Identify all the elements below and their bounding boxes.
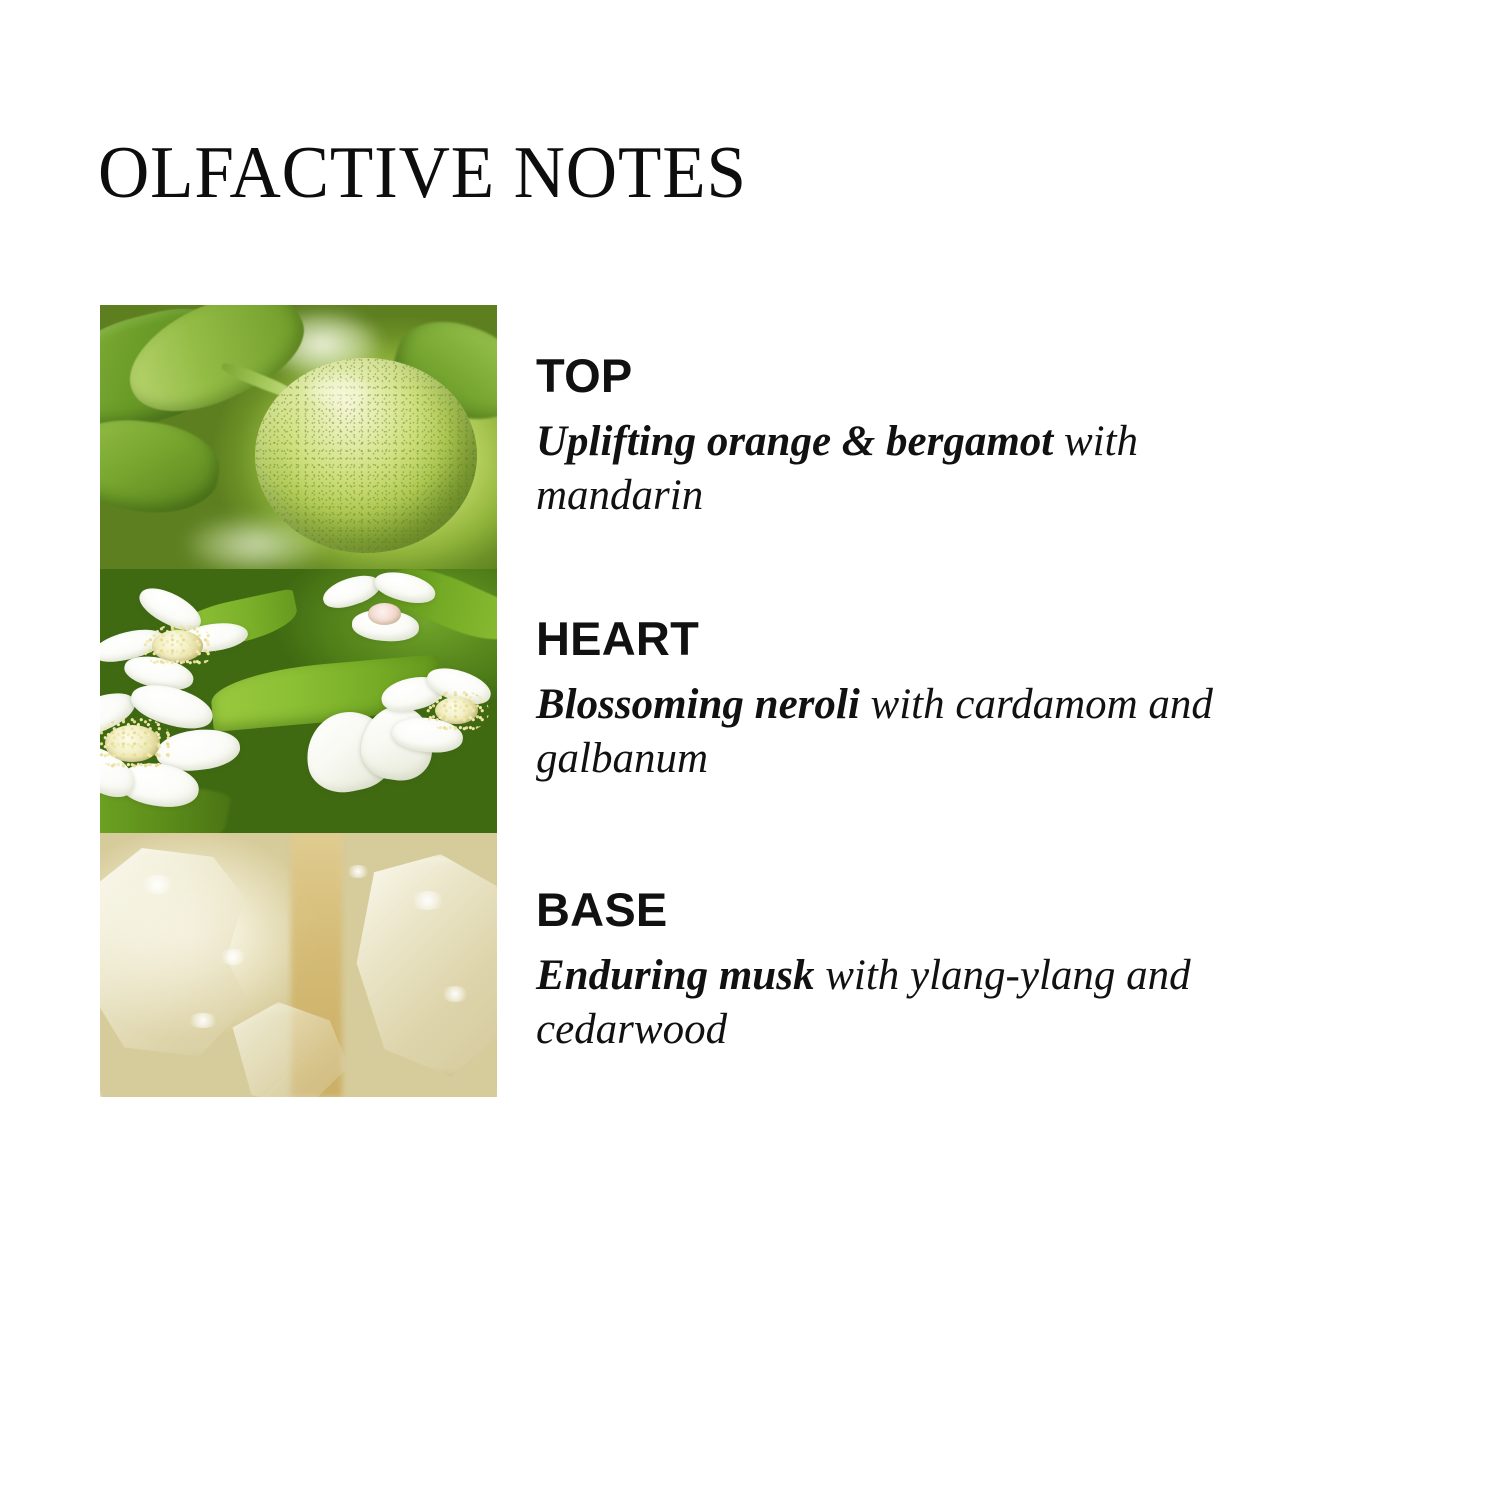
note-description-base: Enduring musk with ylang-ylang and cedar… — [536, 949, 1236, 1057]
page-title: OLFACTIVE NOTES — [98, 136, 747, 210]
blossom-flower — [322, 574, 457, 664]
blossom-flower — [378, 669, 497, 775]
sparkle-highlight — [140, 875, 176, 893]
note-description-top: Uplifting orange & bergamot with mandari… — [536, 415, 1236, 523]
note-label-top: TOP — [536, 352, 1236, 399]
leaf-shape — [100, 411, 225, 522]
olfactive-notes-page: OLFACTIVE NOTES — [0, 0, 1500, 1500]
note-block-base: BASE Enduring musk with ylang-ylang and … — [536, 886, 1236, 1057]
note-block-heart: HEART Blossoming neroli with cardamom an… — [536, 615, 1236, 786]
citrus-fruit-photo — [100, 305, 497, 569]
note-block-top: TOP Uplifting orange & bergamot with man… — [536, 352, 1236, 523]
stamen-dots — [143, 624, 216, 670]
stamen-dots — [426, 690, 489, 732]
sparkle-highlight — [219, 949, 247, 965]
resin-crystal-photo — [100, 833, 497, 1097]
note-label-base: BASE — [536, 886, 1236, 933]
fruit-specular-highlight — [306, 374, 370, 408]
note-accent-heart: Blossoming neroli — [536, 681, 860, 728]
neroli-blossom-photo — [100, 569, 497, 833]
sparkle-highlight — [410, 891, 446, 909]
note-accent-top: Uplifting orange & bergamot — [536, 418, 1053, 465]
note-accent-base: Enduring musk — [536, 952, 814, 999]
note-description-heart: Blossoming neroli with cardamom and galb… — [536, 678, 1236, 786]
notes-image-strip — [100, 305, 497, 1097]
sparkle-highlight — [346, 865, 370, 878]
crystal-facets — [100, 833, 497, 1097]
stamen-cluster — [368, 603, 400, 625]
sparkle-highlight — [441, 986, 469, 1002]
note-label-heart: HEART — [536, 615, 1236, 662]
